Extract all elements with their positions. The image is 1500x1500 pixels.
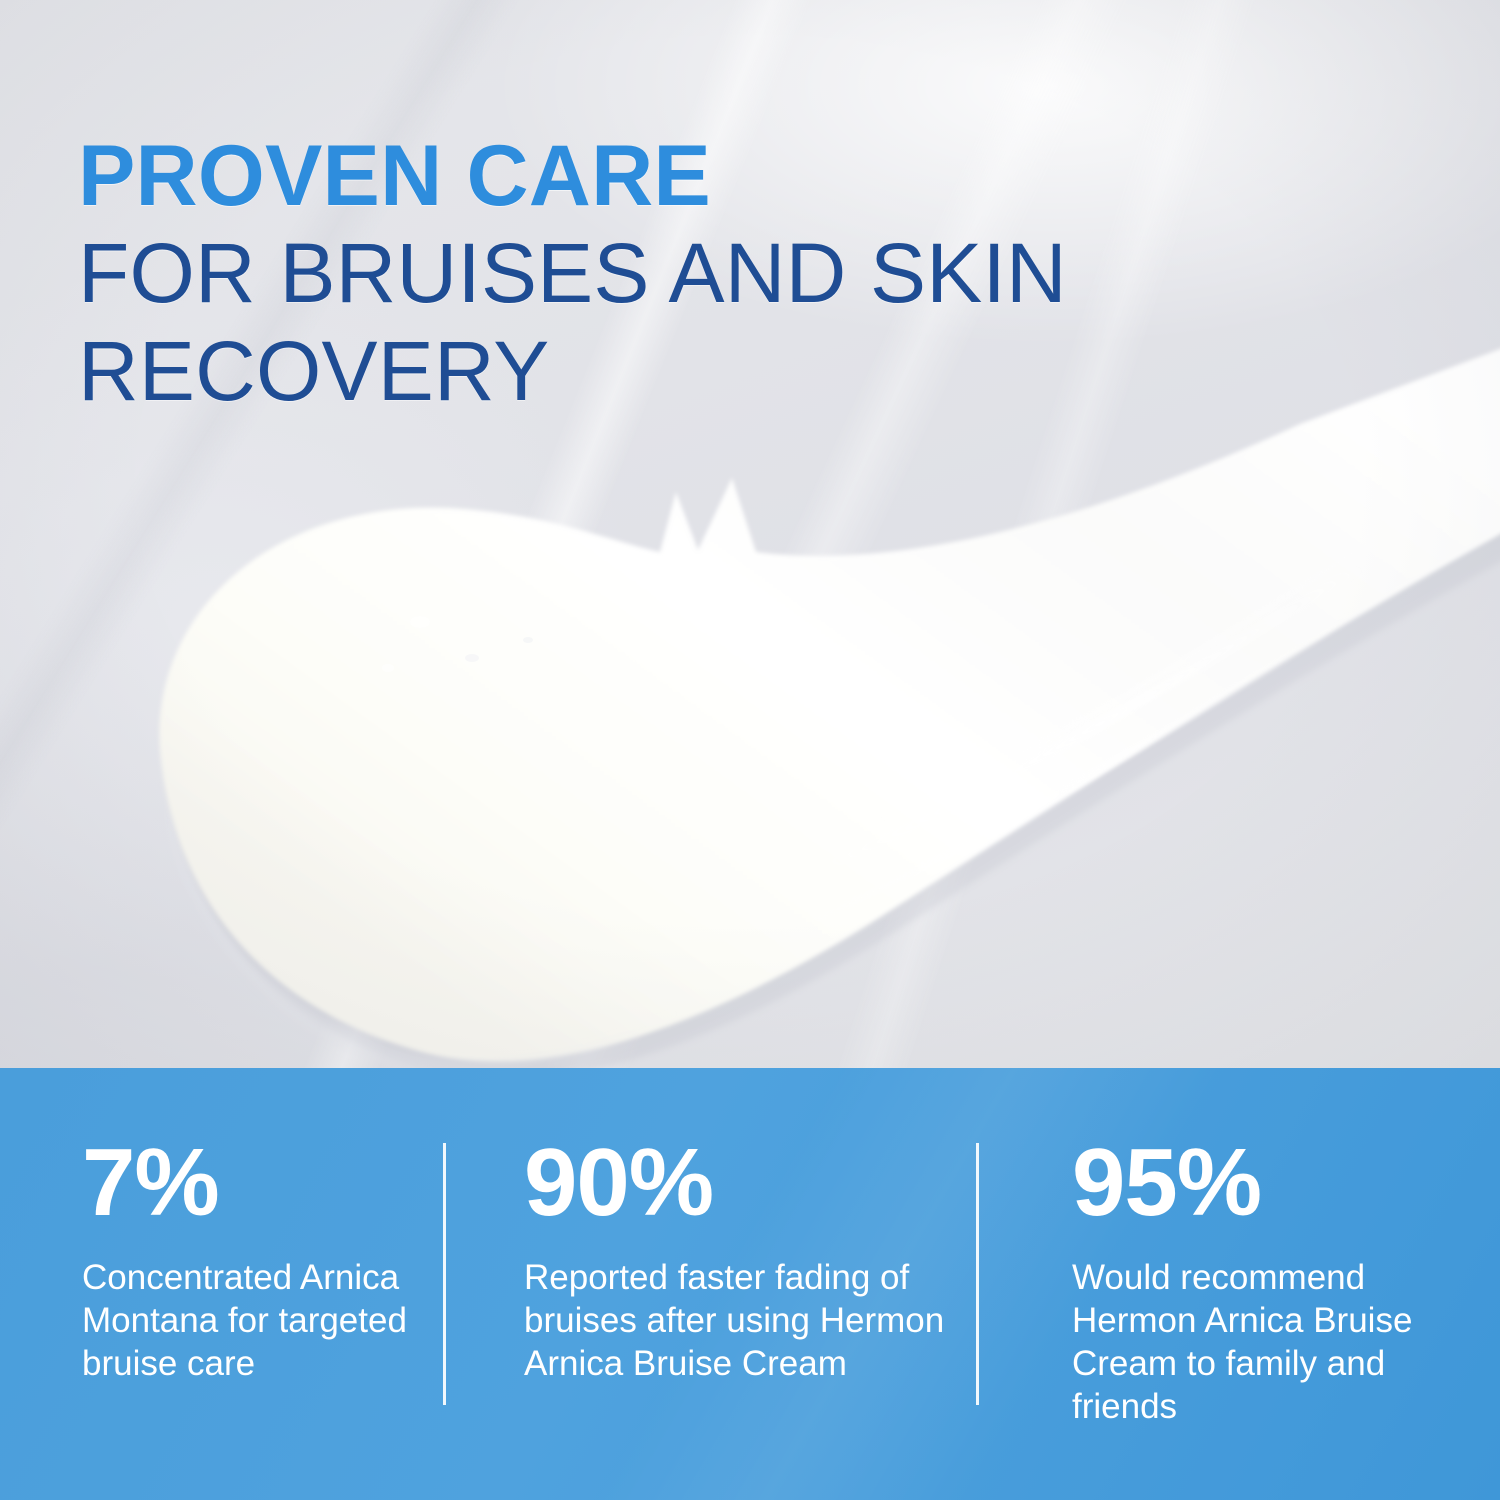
stat-description: Concentrated Arnica Montana for targeted… [82, 1256, 420, 1385]
headline-line-1: PROVEN CARE [78, 128, 1258, 224]
headline: PROVEN CARE FOR BRUISES AND SKIN RECOVER… [78, 128, 1258, 420]
headline-line-3: RECOVERY [78, 322, 1258, 420]
stats-band: 7% Concentrated Arnica Montana for targe… [0, 1068, 1500, 1500]
stat-item: 7% Concentrated Arnica Montana for targe… [0, 1068, 444, 1385]
stat-number: 7% [82, 1140, 420, 1226]
stat-number: 90% [524, 1140, 953, 1226]
stat-number: 95% [1072, 1140, 1470, 1226]
stat-description: Reported faster fading of bruises after … [524, 1256, 953, 1385]
headline-line-2: FOR BRUISES AND SKIN [78, 224, 1258, 322]
stats-row: 7% Concentrated Arnica Montana for targe… [0, 1068, 1500, 1500]
stat-divider [976, 1143, 979, 1405]
stat-item: 95% Would recommend Hermon Arnica Bruise… [977, 1068, 1500, 1428]
stat-item: 90% Reported faster fading of bruises af… [444, 1068, 977, 1385]
stat-divider [443, 1143, 446, 1405]
stat-description: Would recommend Hermon Arnica Bruise Cre… [1072, 1256, 1470, 1428]
product-infographic: PROVEN CARE FOR BRUISES AND SKIN RECOVER… [0, 0, 1500, 1500]
